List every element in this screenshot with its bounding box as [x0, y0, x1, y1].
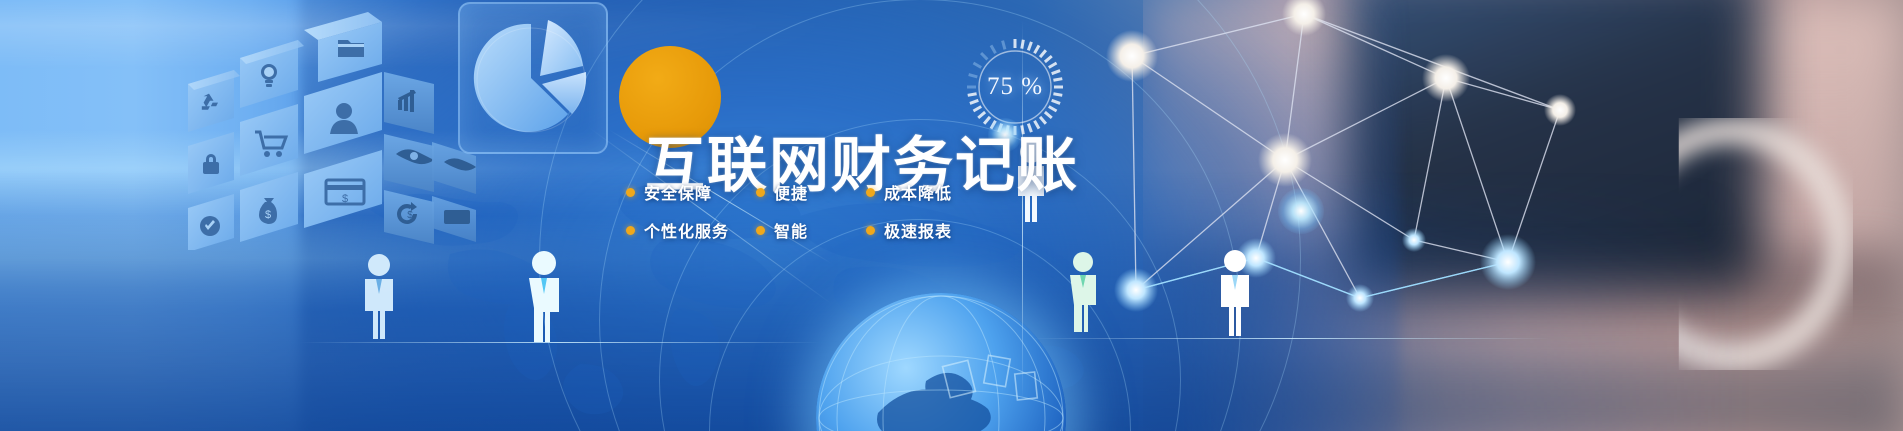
feature-item-fast-report[interactable]: 极速报表: [866, 218, 952, 242]
network-node-graph: [1060, 0, 1620, 320]
svg-text:$: $: [407, 210, 413, 221]
feature-item-convenient[interactable]: 便捷: [756, 180, 866, 204]
person-pictogram-5: [1213, 248, 1257, 336]
feature-item-security[interactable]: 安全保障: [626, 180, 756, 204]
feature-row-2: 个性化服务 智能 极速报表: [626, 218, 986, 242]
cube-right-face: $: [384, 72, 434, 244]
bullet-dot-icon: [626, 188, 635, 197]
person-pictogram-4: [1063, 250, 1103, 332]
svg-text:$: $: [342, 193, 348, 205]
pie-chart-panel: [458, 2, 608, 154]
feature-item-cost[interactable]: 成本降低: [866, 180, 952, 204]
decorative-squares: [940, 347, 1050, 417]
bullet-dot-icon: [626, 226, 635, 235]
feature-list: 安全保障 便捷 成本降低 个性化服务 智能 极速报表: [626, 180, 986, 256]
svg-text:$: $: [265, 209, 271, 221]
check-badge-icon: [200, 216, 220, 236]
bullet-dot-icon: [866, 226, 875, 235]
feature-label: 极速报表: [884, 218, 952, 242]
cube-top-face: $: [304, 12, 382, 228]
inbox-icon: [444, 210, 470, 224]
cube-mid-face: $: [240, 40, 304, 242]
bullet-dot-icon: [756, 188, 765, 197]
feature-label: 智能: [774, 218, 808, 242]
person-pictogram-2: [357, 252, 401, 340]
bullet-dot-icon: [756, 226, 765, 235]
node-glint: [1278, 188, 1324, 234]
feature-label: 个性化服务: [644, 218, 729, 242]
feature-label: 安全保障: [644, 180, 712, 204]
bullet-dot-icon: [866, 188, 875, 197]
feature-item-personalized[interactable]: 个性化服务: [626, 218, 756, 242]
feature-label: 便捷: [774, 180, 808, 204]
pie-slice-2: [540, 20, 583, 76]
person-pictogram-3: [521, 250, 567, 342]
cube-left-face: [188, 70, 240, 250]
divider-line-bottom-2: [1030, 338, 1550, 339]
feature-label: 成本降低: [884, 180, 952, 204]
feature-item-smart[interactable]: 智能: [756, 218, 866, 242]
divider-line-bottom: [300, 342, 820, 343]
app-icon-cube: $: [170, 10, 500, 250]
promo-banner: $: [0, 0, 1903, 431]
feature-row-1: 安全保障 便捷 成本降低: [626, 180, 986, 204]
